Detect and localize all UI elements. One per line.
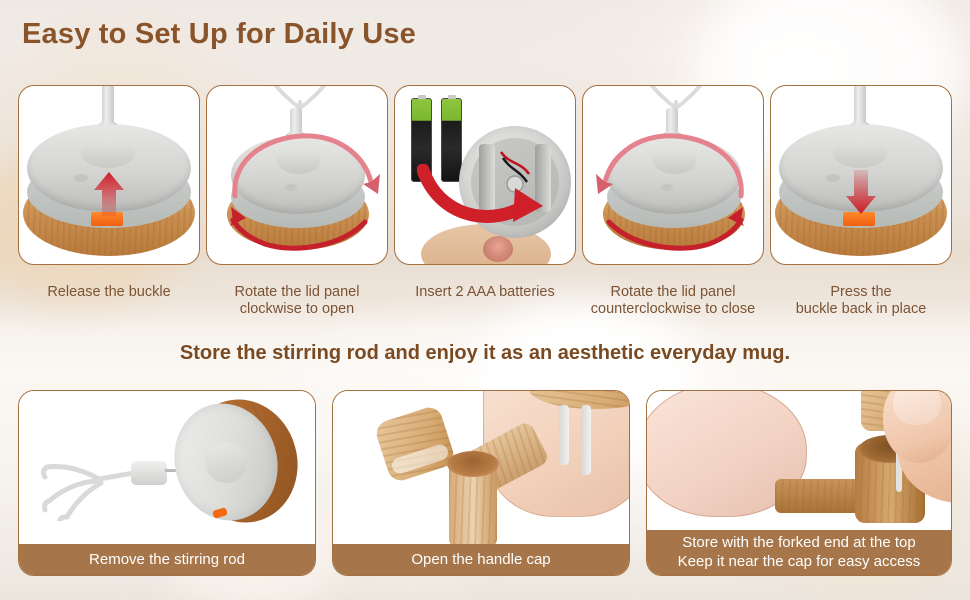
stir-rod-shaft bbox=[581, 405, 591, 475]
step-card-rotate-close bbox=[582, 85, 764, 265]
storage-card-store-rod: Store with the forked end at the top Kee… bbox=[646, 390, 952, 576]
storage-steps-row: Remove the stirring rod Open the handle … bbox=[18, 390, 952, 576]
storage-caption-open-cap: Open the handle cap bbox=[333, 544, 629, 575]
step-caption-rotate-open: Rotate the lid panel clockwise to open bbox=[206, 270, 388, 330]
lid-hub bbox=[81, 138, 135, 168]
lid-vent-hole bbox=[74, 174, 88, 182]
stir-rod-shaft bbox=[559, 405, 569, 465]
handle-cap-open-illustration bbox=[333, 391, 629, 544]
hand-storing-rod-illustration bbox=[647, 391, 951, 530]
step-caption-insert-batteries: Insert 2 AAA batteries bbox=[394, 270, 576, 330]
page-title: Easy to Set Up for Daily Use bbox=[22, 18, 416, 51]
stirring-rod-and-lid-illustration bbox=[19, 391, 315, 544]
caption-line: Rotate the lid panel bbox=[582, 284, 764, 301]
caption-line: Rotate the lid panel bbox=[206, 284, 388, 301]
handle-opening bbox=[447, 451, 499, 477]
setup-steps-captions: Release the buckle Rotate the lid panel … bbox=[18, 270, 952, 330]
caption-line: counterclockwise to close bbox=[582, 301, 764, 318]
lid-buckle-up-illustration bbox=[19, 86, 199, 264]
lid-rotate-open-illustration bbox=[207, 86, 387, 264]
infographic-page: Easy to Set Up for Daily Use bbox=[0, 0, 970, 600]
step-card-rotate-open bbox=[206, 85, 388, 265]
lid-rotate-close-illustration bbox=[583, 86, 763, 264]
lid-hub bbox=[833, 138, 887, 168]
step-card-press-buckle bbox=[770, 85, 952, 265]
storage-card-open-cap: Open the handle cap bbox=[332, 390, 630, 576]
lid-buckle-down-illustration bbox=[771, 86, 951, 264]
storage-caption-store-rod: Store with the forked end at the top Kee… bbox=[647, 530, 951, 575]
rotate-counterclockwise-icon bbox=[589, 130, 761, 258]
caption-line: Keep it near the cap for easy access bbox=[651, 552, 947, 571]
handle-cap bbox=[373, 404, 457, 484]
caption-line: buckle back in place bbox=[770, 301, 952, 318]
lid-vent-hole bbox=[826, 174, 840, 182]
handle-socket bbox=[483, 236, 513, 262]
setup-steps-row bbox=[18, 85, 952, 265]
step-caption-release-buckle: Release the buckle bbox=[18, 270, 200, 330]
down-arrow-icon bbox=[845, 170, 877, 214]
caption-line: Store with the forked end at the top bbox=[651, 533, 947, 552]
step-caption-rotate-close: Rotate the lid panel counterclockwise to… bbox=[582, 270, 764, 330]
caption-line: clockwise to open bbox=[206, 301, 388, 318]
battery-compartment-illustration bbox=[395, 86, 575, 264]
caption-line: Press the bbox=[770, 284, 952, 301]
step-card-release-buckle bbox=[18, 85, 200, 265]
curved-arrow-icon bbox=[417, 164, 547, 236]
lid-hub bbox=[205, 443, 247, 483]
storage-caption-remove-rod: Remove the stirring rod bbox=[19, 544, 315, 575]
step-card-insert-batteries bbox=[394, 85, 576, 265]
rotate-clockwise-icon bbox=[215, 130, 385, 258]
step-caption-press-buckle: Press the buckle back in place bbox=[770, 270, 952, 330]
rod-tip-collar bbox=[131, 461, 167, 485]
up-arrow-icon bbox=[93, 172, 125, 216]
storage-card-remove-rod: Remove the stirring rod bbox=[18, 390, 316, 576]
section-headline: Store the stirring rod and enjoy it as a… bbox=[0, 342, 970, 365]
orange-buckle bbox=[843, 212, 875, 226]
